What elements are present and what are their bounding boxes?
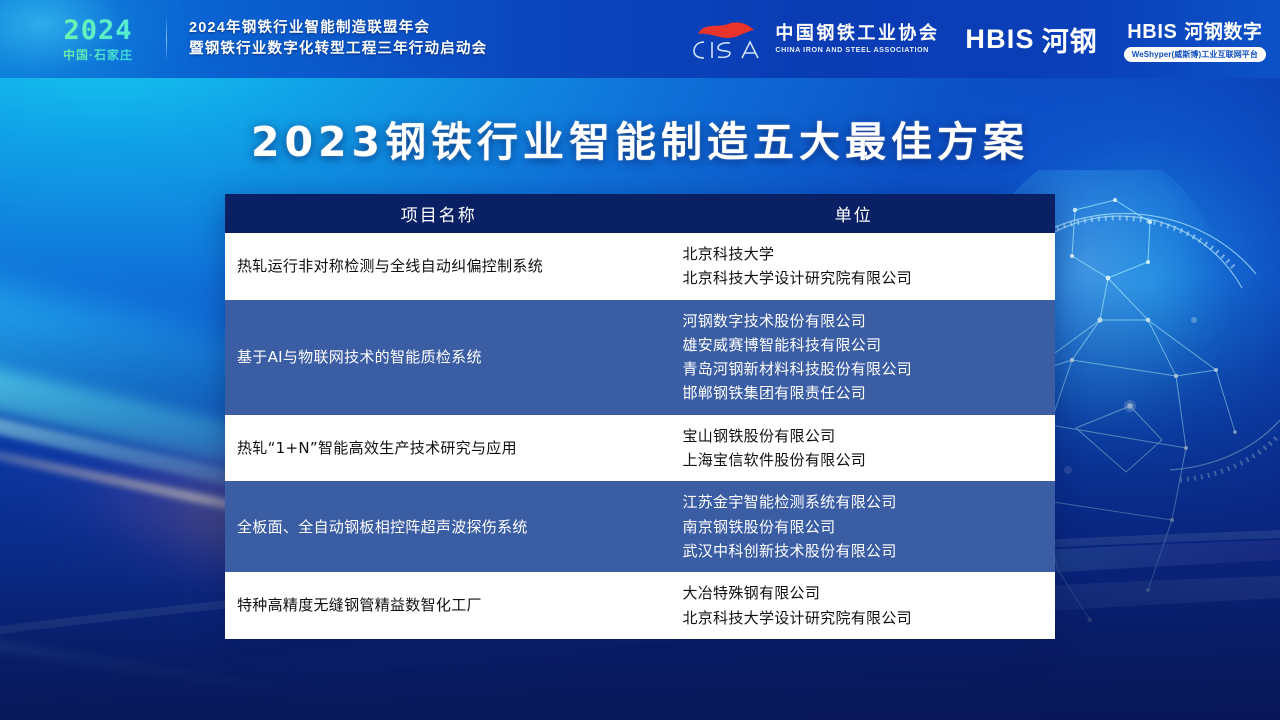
page-title: 2023钢铁行业智能制造五大最佳方案 (0, 108, 1280, 168)
unit-line: 北京科技大学 (682, 242, 1043, 266)
unit-line: 宝山钢铁股份有限公司 (682, 424, 1043, 448)
cell-unit-list: 江苏金宇智能检测系统有限公司南京钢铁股份有限公司武汉中科创新技术股份有限公司 (652, 481, 1055, 572)
table-row: 全板面、全自动钢板相控阵超声波探伤系统江苏金宇智能检测系统有限公司南京钢铁股份有… (225, 481, 1055, 572)
cisa-mark-icon (684, 18, 766, 60)
column-header-unit: 单位 (652, 194, 1055, 233)
hbis-digital-logo-cn: 河钢数字 (1184, 17, 1262, 44)
cell-project-name: 特种高精度无缝钢管精益数智化工厂 (225, 572, 652, 639)
header-bar: 2024 中国·石家庄 2024年钢铁行业智能制造联盟年会 暨钢铁行业数字化转型… (0, 0, 1280, 78)
table-header: 项目名称 单位 (225, 194, 1055, 233)
hbis-digital-logo-main: HBIS 河钢数字 (1127, 17, 1262, 44)
cell-project-name: 热轧运行非对称检测与全线自动纠偏控制系统 (225, 233, 652, 300)
cell-project-name: 全板面、全自动钢板相控阵超声波探伤系统 (225, 481, 652, 572)
unit-line: 江苏金宇智能检测系统有限公司 (682, 490, 1043, 514)
conference-title-line1: 2024年钢铁行业智能制造联盟年会 (189, 18, 487, 39)
table-row: 热轧“1+N”智能高效生产技术研究与应用宝山钢铁股份有限公司上海宝信软件股份有限… (225, 415, 1055, 482)
cisa-logo-cn: 中国钢铁工业协会 (775, 24, 939, 44)
unit-line: 上海宝信软件股份有限公司 (682, 448, 1043, 472)
column-header-project: 项目名称 (225, 194, 652, 233)
hbis-digital-logo: HBIS 河钢数字 WeShyper(威斯博)工业互联网平台 (1124, 17, 1266, 62)
table-row: 特种高精度无缝钢管精益数智化工厂大冶特殊钢有限公司北京科技大学设计研究院有限公司 (225, 572, 1055, 639)
hbis-logo: HBIS 河钢 (965, 20, 1097, 59)
table-row: 热轧运行非对称检测与全线自动纠偏控制系统北京科技大学北京科技大学设计研究院有限公… (225, 233, 1055, 300)
slide-canvas: 2024 中国·石家庄 2024年钢铁行业智能制造联盟年会 暨钢铁行业数字化转型… (0, 0, 1280, 720)
hbis-logo-cn: 河钢 (1042, 20, 1098, 59)
solutions-table: 项目名称 单位 热轧运行非对称检测与全线自动纠偏控制系统北京科技大学北京科技大学… (225, 194, 1055, 639)
cisa-logo: 中国钢铁工业协会 CHINA IRON AND STEEL ASSOCIATIO… (684, 18, 939, 60)
hbis-digital-logo-subtitle: WeShyper(威斯博)工业互联网平台 (1124, 47, 1266, 62)
unit-line: 邯郸钢铁集团有限责任公司 (682, 381, 1043, 405)
table-header-row: 项目名称 单位 (225, 194, 1055, 233)
cell-unit-list: 大冶特殊钢有限公司北京科技大学设计研究院有限公司 (652, 572, 1055, 639)
unit-line: 大冶特殊钢有限公司 (682, 581, 1043, 605)
hbis-logo-en: HBIS (965, 24, 1034, 55)
hbis-digital-logo-en: HBIS (1127, 21, 1177, 44)
cell-unit-list: 北京科技大学北京科技大学设计研究院有限公司 (652, 233, 1055, 300)
cell-project-name: 热轧“1+N”智能高效生产技术研究与应用 (225, 415, 652, 482)
cisa-logo-text: 中国钢铁工业协会 CHINA IRON AND STEEL ASSOCIATIO… (775, 24, 939, 55)
cell-unit-list: 河钢数字技术股份有限公司雄安威赛博智能科技有限公司青岛河钢新材料科技股份有限公司… (652, 300, 1055, 415)
unit-line: 河钢数字技术股份有限公司 (682, 309, 1043, 333)
table-body: 热轧运行非对称检测与全线自动纠偏控制系统北京科技大学北京科技大学设计研究院有限公… (225, 233, 1055, 639)
event-logo-city: 中国·石家庄 (44, 49, 152, 61)
conference-title-line2: 暨钢铁行业数字化转型工程三年行动启动会 (189, 39, 487, 60)
table-row: 基于AI与物联网技术的智能质检系统河钢数字技术股份有限公司雄安威赛博智能科技有限… (225, 300, 1055, 415)
unit-line: 北京科技大学设计研究院有限公司 (682, 266, 1043, 290)
unit-line: 雄安威赛博智能科技有限公司 (682, 333, 1043, 357)
conference-title: 2024年钢铁行业智能制造联盟年会 暨钢铁行业数字化转型工程三年行动启动会 (189, 18, 487, 60)
cell-unit-list: 宝山钢铁股份有限公司上海宝信软件股份有限公司 (652, 415, 1055, 482)
unit-line: 武汉中科创新技术股份有限公司 (682, 539, 1043, 563)
unit-line: 青岛河钢新材料科技股份有限公司 (682, 357, 1043, 381)
solutions-table-wrapper: 项目名称 单位 热轧运行非对称检测与全线自动纠偏控制系统北京科技大学北京科技大学… (225, 194, 1055, 639)
sponsor-logos: 中国钢铁工业协会 CHINA IRON AND STEEL ASSOCIATIO… (684, 17, 1266, 62)
cisa-logo-en: CHINA IRON AND STEEL ASSOCIATION (775, 45, 939, 54)
unit-line: 北京科技大学设计研究院有限公司 (682, 606, 1043, 630)
cell-project-name: 基于AI与物联网技术的智能质检系统 (225, 300, 652, 415)
unit-line: 南京钢铁股份有限公司 (682, 515, 1043, 539)
event-logo: 2024 中国·石家庄 (44, 17, 152, 61)
event-logo-year: 2024 (44, 17, 152, 44)
